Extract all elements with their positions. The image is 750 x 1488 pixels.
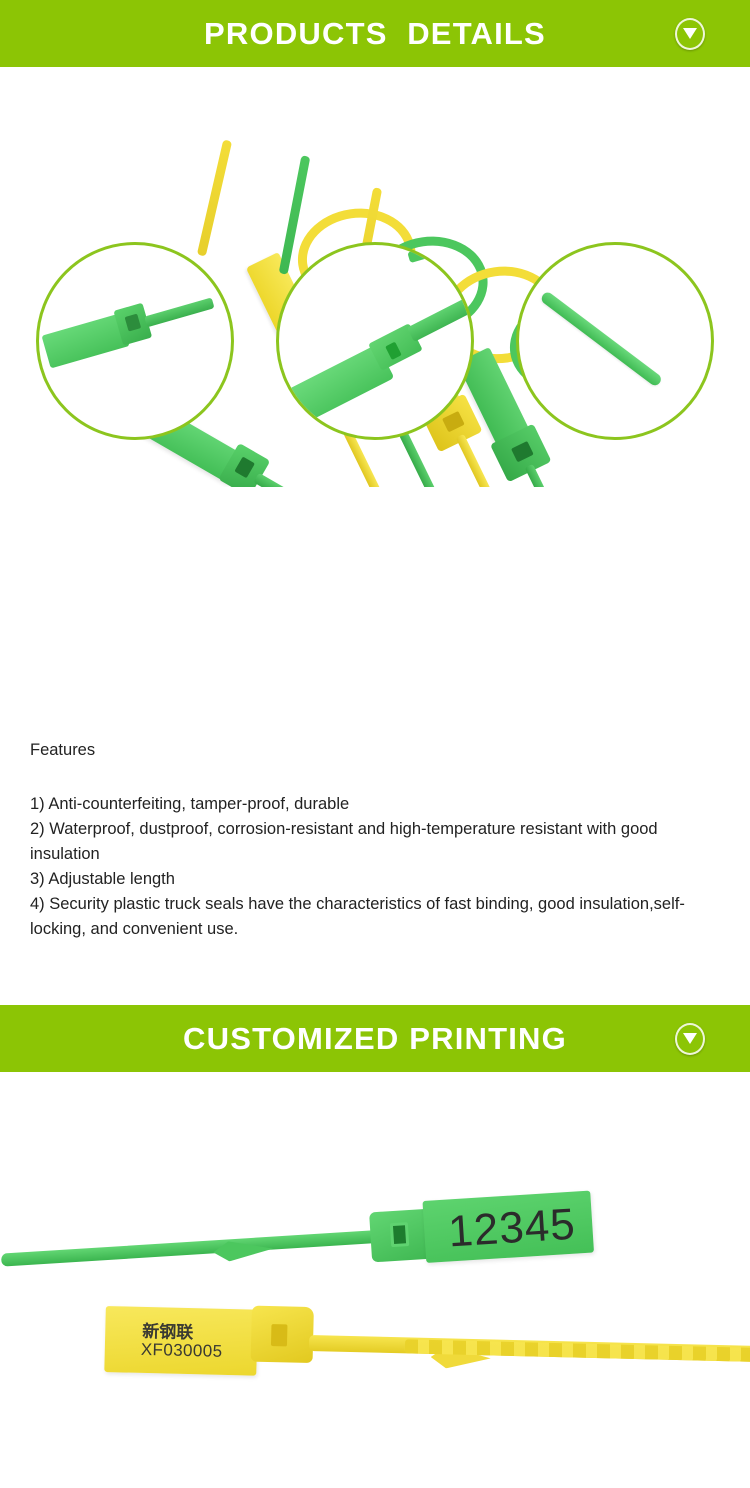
seal-strap-top (407, 242, 474, 263)
detail-circle-head (36, 242, 234, 440)
circle-photo-tail (519, 245, 711, 437)
chevron-down-triangle-icon[interactable] (675, 1023, 705, 1055)
feature-item-2: 2) Waterproof, dustproof, corrosion-resi… (30, 817, 730, 867)
section-banner-products-details: PRODUCTS DETAILS (0, 0, 750, 67)
circle-photo-body (279, 245, 471, 437)
banner-title-customized-printing: CUSTOMIZED PRINTING (183, 1023, 567, 1054)
features-heading: Features (30, 738, 730, 763)
seal-strap (144, 297, 214, 327)
section-banner-customized-printing: CUSTOMIZED PRINTING (0, 1005, 750, 1072)
features-block: Features 1) Anti-counterfeiting, tamper-… (30, 738, 730, 942)
feature-item-1: 1) Anti-counterfeiting, tamper-proof, du… (30, 792, 730, 817)
product-detail-page: PRODUCTS DETAILS (0, 0, 750, 1488)
printed-code-yellow: XF030005 (141, 1340, 223, 1362)
banner-title-products-details: PRODUCTS DETAILS (204, 18, 546, 49)
printed-seal-yellow: 新钢联 XF030005 (104, 1294, 750, 1406)
detail-circle-body (276, 242, 474, 440)
circle-photo-head (39, 245, 231, 437)
seal-lock-hole (390, 1222, 409, 1247)
feature-item-3: 3) Adjustable length (30, 867, 730, 892)
detail-circles-row (0, 242, 750, 472)
seal-yellow-1-tail (197, 139, 232, 256)
detail-circle-tail (516, 242, 714, 440)
chevron-down-triangle-icon[interactable] (675, 18, 705, 50)
printed-number-green: 12345 (447, 1200, 577, 1258)
seal-lock-hole (271, 1324, 288, 1346)
triangle-glyph (683, 28, 697, 39)
printed-seal-green: 12345 (0, 1184, 602, 1294)
seal-strap (407, 290, 474, 342)
hero-product-photo (0, 67, 750, 487)
seal-strap (1, 1229, 387, 1266)
feature-item-4: 4) Security plastic truck seals have the… (30, 892, 730, 942)
seal-tail-strap (539, 290, 663, 387)
printing-samples-photo: 12345 新钢联 XF030005 (0, 1072, 750, 1488)
triangle-glyph (683, 1033, 697, 1044)
